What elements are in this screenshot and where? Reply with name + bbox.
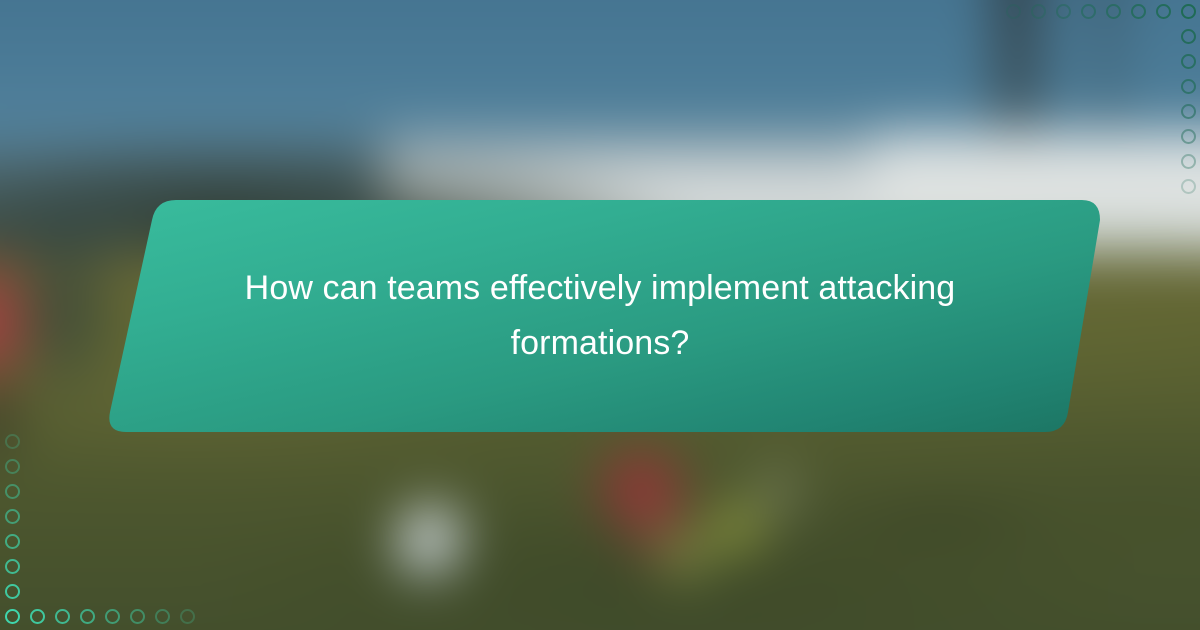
question-text: How can teams effectively implement atta… <box>180 198 1020 434</box>
share-card-canvas: How can teams effectively implement atta… <box>0 0 1200 630</box>
striker-boot-left <box>654 528 715 583</box>
soccer-ball <box>396 505 472 592</box>
pitch-shadow <box>763 489 1117 544</box>
player-left-legs <box>0 378 29 481</box>
